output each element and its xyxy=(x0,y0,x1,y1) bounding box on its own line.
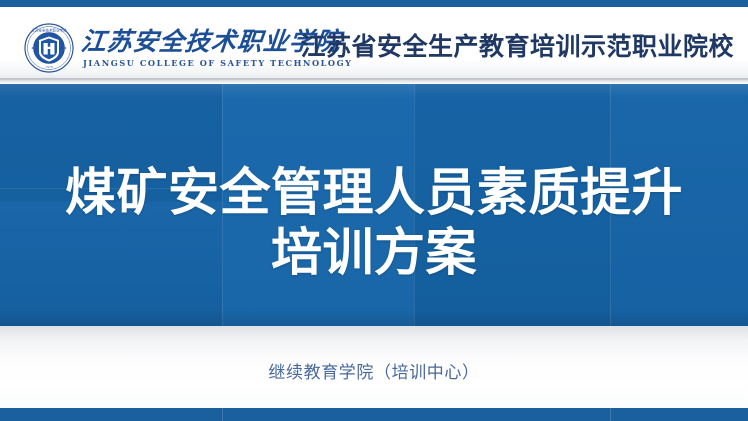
header-slogan: 江苏省安全生产教育培训示范职业院校 xyxy=(300,35,734,60)
slide-subtitle: 继续教育学院（培训中心） xyxy=(0,358,748,383)
slide-title-line-1: 煤矿安全管理人员素质提升 xyxy=(0,163,748,223)
bottom-rule-seam-1 xyxy=(222,408,223,421)
slide-title: 煤矿安全管理人员素质提升 培训方案 xyxy=(0,163,748,282)
bottom-accent-rule xyxy=(0,408,748,421)
bg-bevel-top xyxy=(0,84,748,98)
bottom-rule-seam-2 xyxy=(610,408,611,421)
svg-text:1978: 1978 xyxy=(45,65,53,69)
slide-header: 江苏安全技术职业学院 1978 江苏安全技术职业学院 JIANGSU COLLE… xyxy=(0,7,748,80)
header-divider-shadow xyxy=(0,78,748,84)
college-seal-icon: 江苏安全技术职业学院 1978 xyxy=(24,23,74,73)
top-accent-rule xyxy=(0,0,748,7)
slide-title-line-2: 培训方案 xyxy=(0,223,748,283)
bg-bevel-bottom xyxy=(0,308,748,326)
title-slide: 江苏安全技术职业学院 1978 江苏安全技术职业学院 JIANGSU COLLE… xyxy=(0,0,748,421)
svg-text:江苏安全技术职业学院: 江苏安全技术职业学院 xyxy=(32,28,67,33)
